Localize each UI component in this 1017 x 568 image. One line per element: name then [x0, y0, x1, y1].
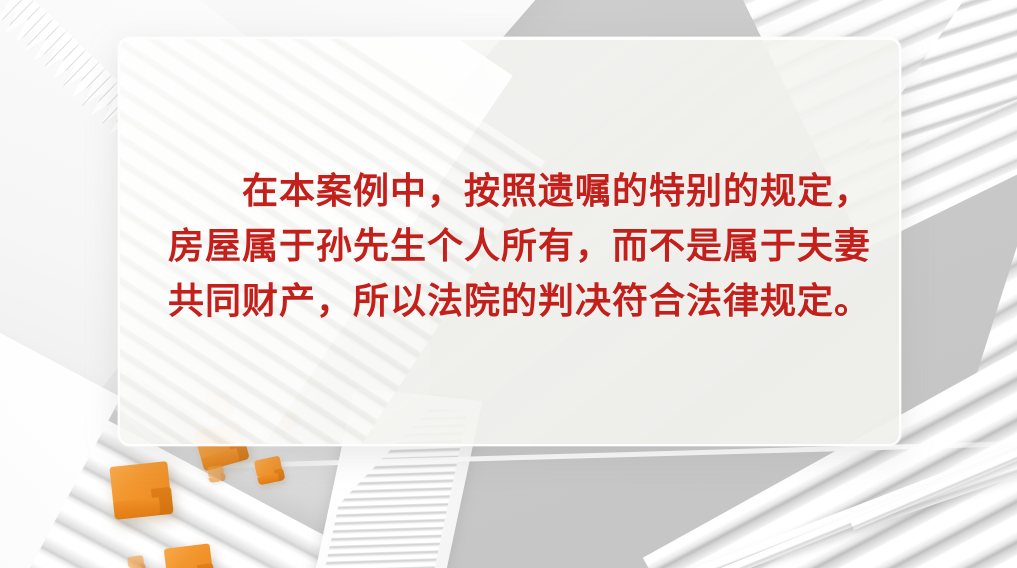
cube-front-face — [201, 448, 240, 471]
cube-side-face — [274, 468, 285, 482]
cube-side-face — [220, 473, 226, 481]
lower-left-plate-face-icon — [0, 200, 121, 568]
orange-cube-tiny-c — [127, 555, 145, 568]
orange-cube-small-right — [164, 543, 215, 568]
orange-cube-large-left — [109, 461, 172, 519]
cube-top-face — [109, 461, 171, 504]
cube-front-face — [113, 497, 161, 519]
blade-strip-icon — [575, 427, 1017, 568]
orange-cube-tiny-a — [207, 465, 225, 482]
cube-top-face — [164, 543, 213, 568]
cube-side-face — [140, 563, 146, 568]
cube-front-face — [257, 473, 279, 485]
cube-side-face — [151, 487, 173, 516]
slide-canvas: 在本案例中，按照遗嘱的特别的规定，房屋属于孙先生个人所有，而不是属于夫妻共同财产… — [0, 0, 1017, 568]
blade-strip-icon — [493, 457, 1017, 568]
slide-caption-text: 在本案例中，按照遗嘱的特别的规定，房屋属于孙先生个人所有，而不是属于夫妻共同财产… — [168, 164, 880, 329]
cube-front-face — [209, 476, 222, 483]
cube-top-face — [127, 555, 144, 568]
cube-top-face — [207, 465, 224, 478]
orange-cube-small-mid — [254, 456, 284, 485]
cube-side-face — [197, 563, 215, 568]
cube-top-face — [254, 456, 283, 478]
